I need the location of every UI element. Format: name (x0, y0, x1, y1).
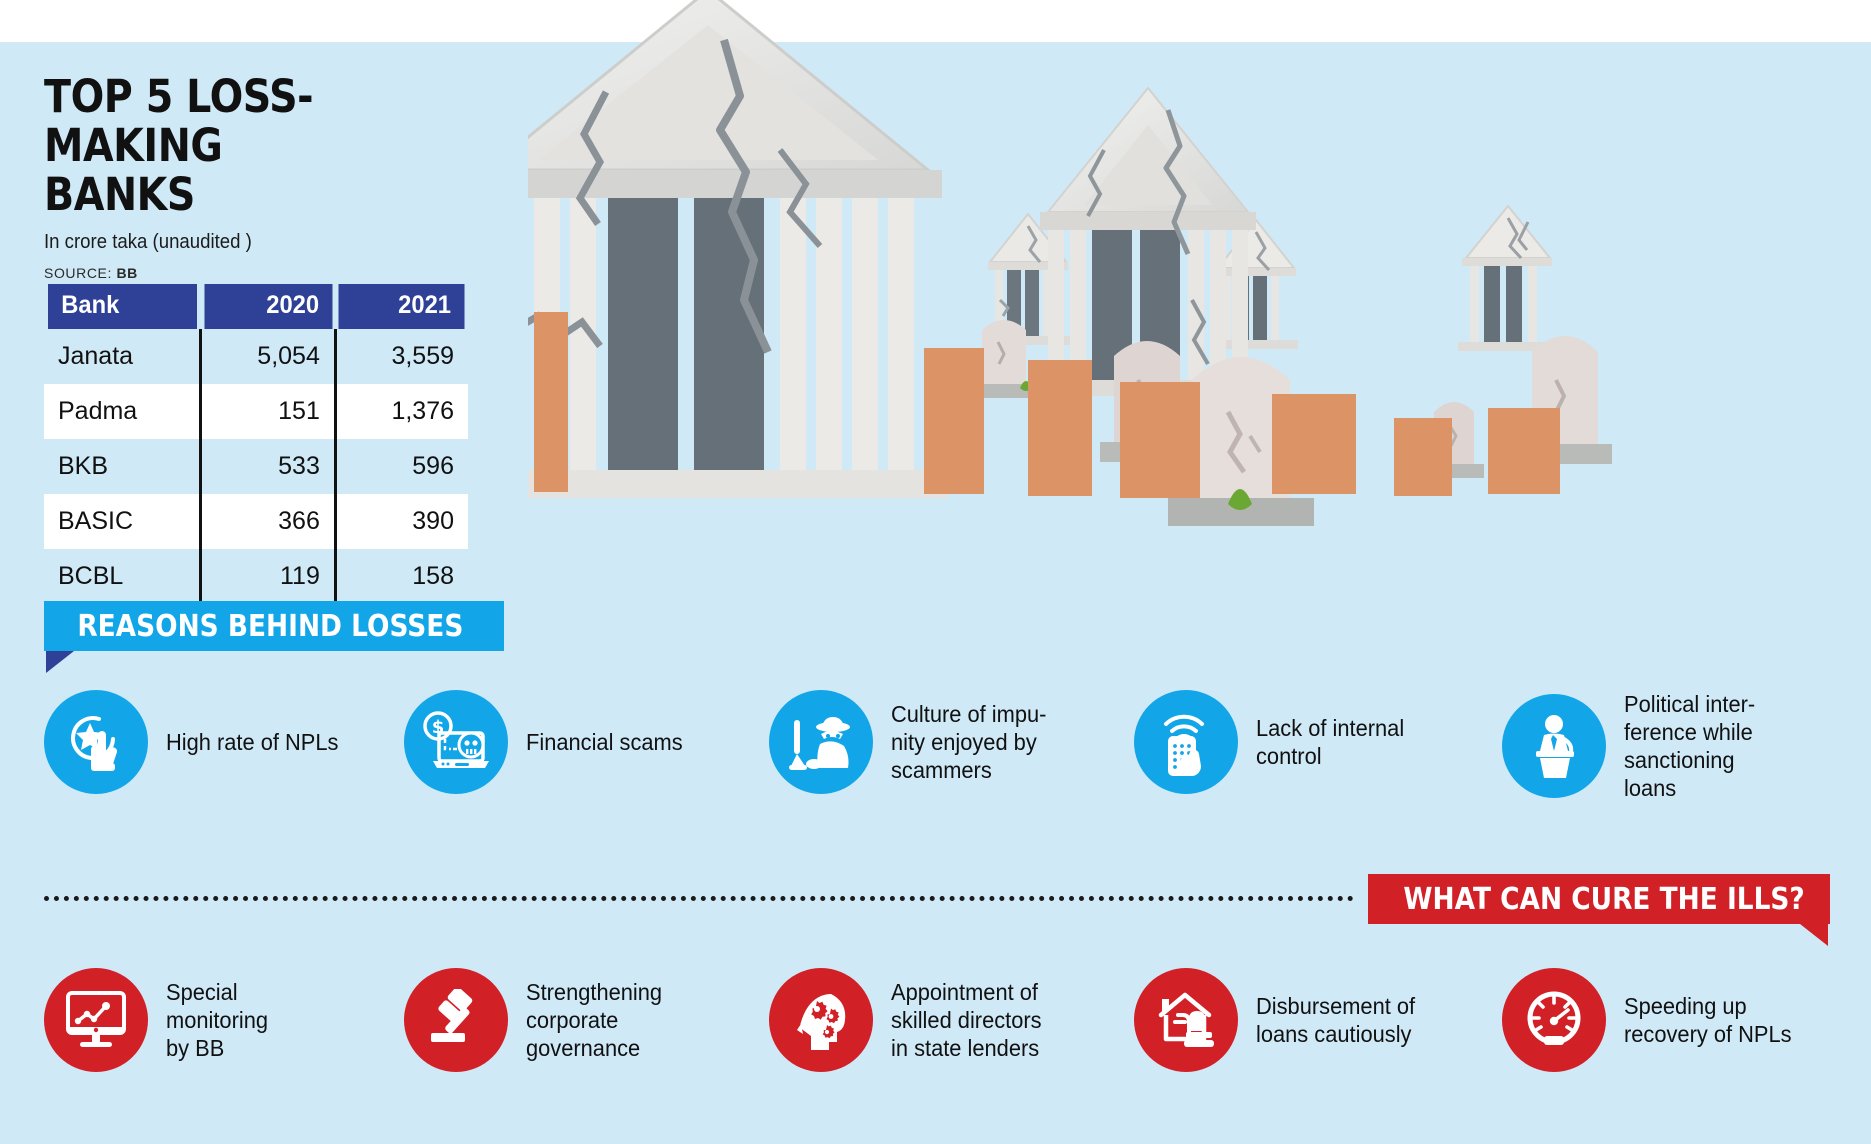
cracked-bank-buildings-illustration (528, 0, 1871, 600)
cell-2021: 3,559 (335, 329, 468, 384)
cell-2020: 5,054 (201, 329, 336, 384)
hacker-at-computer-icon (769, 690, 873, 794)
cures-banner-label: WHAT CAN CURE THE ILLS? (1403, 882, 1804, 917)
column-header-2020: 2020 (204, 284, 332, 329)
headline-block: TOP 5 LOSS-MAKING BANKS In crore taka (u… (44, 72, 524, 281)
cell-2020: 533 (201, 439, 336, 494)
reason-item-high-npl[interactable]: High rate of NPLs (44, 690, 404, 794)
cure-item-cautious-disbursement[interactable]: Disbursement of loans cautiously (1134, 968, 1502, 1072)
cure-item-speed-recovery[interactable]: Speeding up recovery of NPLs (1502, 968, 1832, 1072)
subtitle: In crore taka (unaudited ) (44, 231, 490, 254)
table-row: BASIC 366 390 (44, 494, 468, 549)
gavel-icon (404, 968, 508, 1072)
cure-item-skilled-directors[interactable]: Appointment of skilled directors in stat… (769, 968, 1134, 1072)
loss-making-banks-table: Bank 2020 2021 Janata 5,054 3,559 Padma … (44, 284, 468, 604)
table-row: Janata 5,054 3,559 (44, 329, 468, 384)
banner-tail (46, 651, 74, 673)
cures-icon-row: Special monitoring by BB Strengthening c… (44, 968, 1834, 1072)
reasons-banner: REASONS BEHIND LOSSES (44, 601, 504, 651)
head-gears-icon (769, 968, 873, 1072)
cure-label: Appointment of skilled directors in stat… (891, 978, 1042, 1062)
cell-2021: 1,376 (335, 384, 468, 439)
reason-item-internal-control[interactable]: Lack of internal control (1134, 690, 1502, 794)
reason-label: High rate of NPLs (166, 728, 338, 756)
cure-label: Special monitoring by BB (166, 978, 268, 1062)
cell-bank: BASIC (44, 494, 201, 549)
reason-label: Financial scams (526, 728, 683, 756)
cell-2020: 151 (201, 384, 336, 439)
table-row: BCBL 119 158 (44, 549, 468, 604)
reason-item-political-interference[interactable]: Political inter- ference while sanctioni… (1502, 690, 1832, 802)
reasons-icon-row: High rate of NPLs $ (44, 690, 1834, 802)
infographic-canvas: TOP 5 LOSS-MAKING BANKS In crore taka (u… (0, 0, 1871, 1144)
cell-bank: Padma (44, 384, 201, 439)
table-row: Padma 151 1,376 (44, 384, 468, 439)
source-label: SOURCE: (44, 265, 112, 281)
reason-item-impunity[interactable]: Culture of impu- nity enjoyed by scammer… (769, 690, 1134, 794)
monitor-chart-icon (44, 968, 148, 1072)
house-taka-stamp-icon (1134, 968, 1238, 1072)
cell-2020: 119 (201, 549, 336, 604)
cell-bank: BCBL (44, 549, 201, 604)
source-value: BB (117, 265, 138, 281)
column-header-bank: Bank (48, 284, 197, 329)
politician-podium-icon (1502, 694, 1606, 798)
cure-label: Disbursement of loans cautiously (1256, 992, 1415, 1048)
cure-item-special-monitoring[interactable]: Special monitoring by BB (44, 968, 404, 1072)
cell-2021: 596 (335, 439, 468, 494)
cell-2021: 390 (335, 494, 468, 549)
reason-label: Culture of impu- nity enjoyed by scammer… (891, 700, 1046, 784)
table-row: BKB 533 596 (44, 439, 468, 494)
reason-label: Political inter- ference while sanctioni… (1624, 690, 1755, 802)
remote-control-hand-icon (1134, 690, 1238, 794)
star-hand-tap-icon (44, 690, 148, 794)
reason-label: Lack of internal control (1256, 714, 1404, 770)
cell-2020: 366 (201, 494, 336, 549)
reasons-banner-label: REASONS BEHIND LOSSES (77, 609, 463, 644)
laptop-skull-dollar-icon: $ (404, 690, 508, 794)
cure-item-corporate-governance[interactable]: Strengthening corporate governance (404, 968, 769, 1072)
page-title: TOP 5 LOSS-MAKING BANKS (44, 72, 466, 219)
cell-bank: Janata (44, 329, 201, 384)
cure-label: Speeding up recovery of NPLs (1624, 992, 1792, 1048)
reason-item-financial-scams[interactable]: $ Financial scams (404, 690, 769, 794)
section-divider-dotted (44, 896, 1354, 901)
loss-making-banks-table-wrapper: Bank 2020 2021 Janata 5,054 3,559 Padma … (44, 284, 468, 613)
speedometer-icon (1502, 968, 1606, 1072)
source-line: SOURCE: BB (44, 265, 524, 281)
column-header-2021: 2021 (339, 284, 465, 329)
cell-2021: 158 (335, 549, 468, 604)
table-header-row: Bank 2020 2021 (44, 284, 468, 329)
banner-tail (1800, 924, 1828, 946)
cell-bank: BKB (44, 439, 201, 494)
cure-label: Strengthening corporate governance (526, 978, 662, 1062)
cures-banner: WHAT CAN CURE THE ILLS? (1368, 874, 1830, 924)
